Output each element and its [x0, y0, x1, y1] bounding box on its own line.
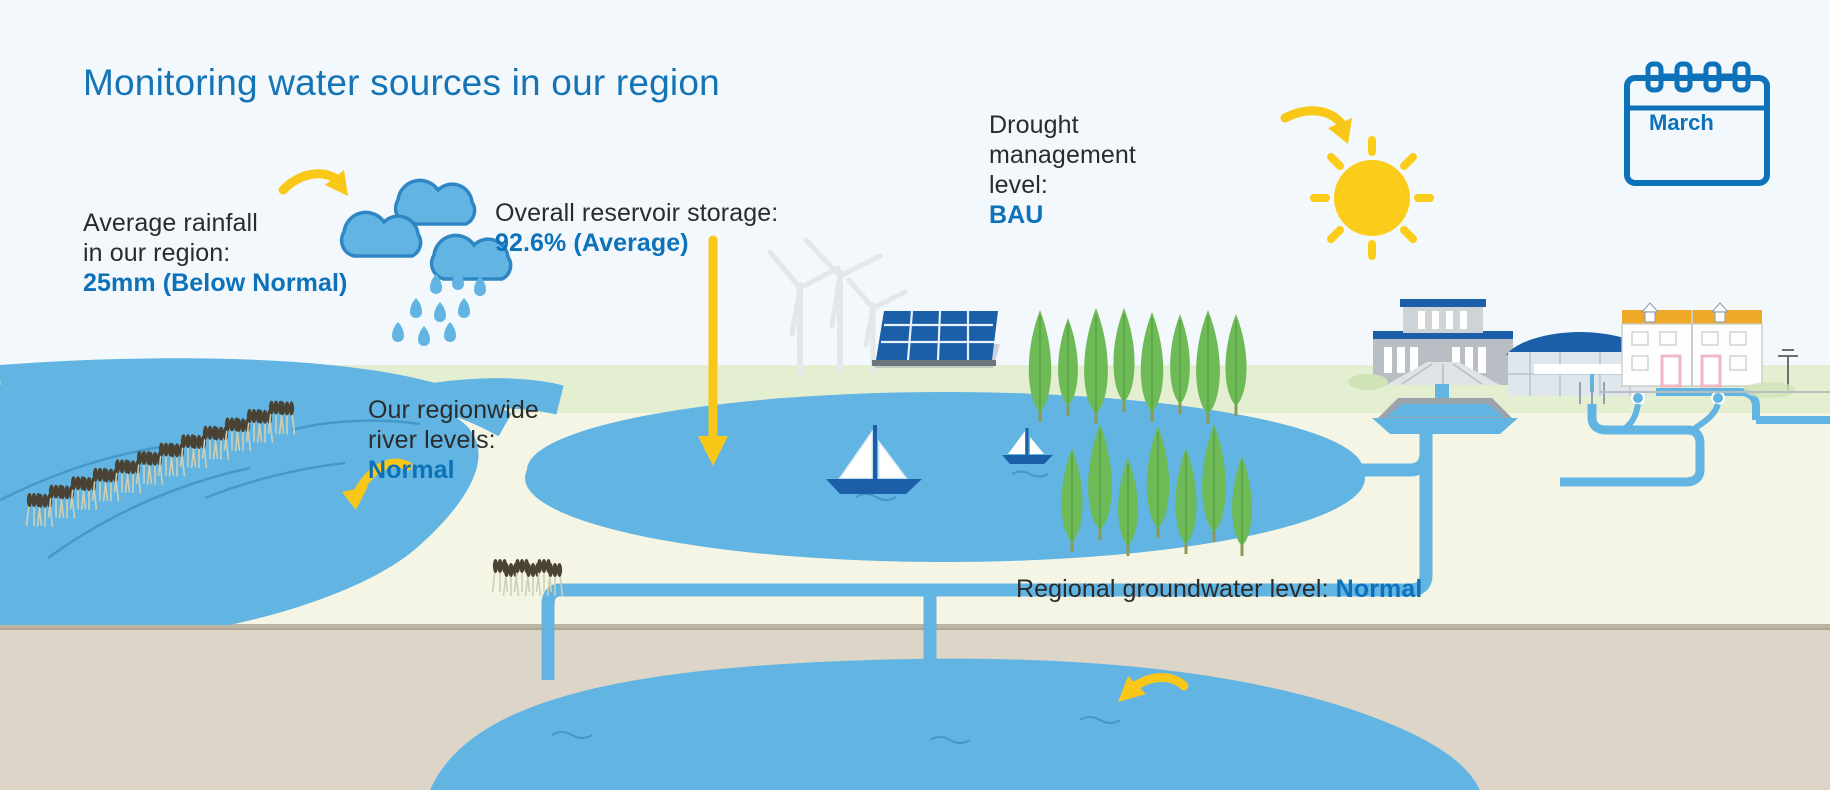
- rainfall-arrow-icon: [283, 170, 348, 196]
- metric-groundwater-label: Regional groundwater level:: [1016, 575, 1329, 603]
- drought-arrow-icon: [1285, 111, 1352, 144]
- annotation-layer: [0, 0, 1830, 790]
- sun-icon: [1314, 140, 1430, 256]
- metric-groundwater: Regional groundwater level: Normal: [1016, 574, 1422, 604]
- metric-rainfall: Average rainfall in our region: 25mm (Be…: [83, 208, 347, 298]
- metric-drought-label-line1: Drought: [989, 111, 1079, 139]
- metric-drought-label-line3: level:: [989, 171, 1048, 199]
- reservoir-arrow-icon: [698, 240, 728, 466]
- metric-drought-label-line2: management: [989, 141, 1136, 169]
- rain-cloud-icon: [342, 180, 511, 346]
- metric-rainfall-label-line2: in our region:: [83, 239, 230, 267]
- metric-river: Our regionwide river levels: Normal: [368, 395, 539, 485]
- metric-rainfall-value: 25mm (Below Normal): [83, 268, 347, 298]
- metric-groundwater-value: Normal: [1336, 575, 1423, 603]
- metric-rainfall-label-line1: Average rainfall: [83, 209, 258, 237]
- metric-reservoir: Overall reservoir storage: 92.6% (Averag…: [495, 198, 778, 258]
- metric-river-label-line2: river levels:: [368, 426, 496, 454]
- raindrop-group: [392, 270, 486, 346]
- metric-drought: Drought management level: BAU: [989, 110, 1136, 230]
- groundwater-arrow-icon: [1118, 676, 1184, 702]
- metric-reservoir-label: Overall reservoir storage:: [495, 199, 778, 227]
- infographic-canvas: Monitoring water sources in our region A…: [0, 0, 1830, 790]
- metric-drought-value: BAU: [989, 200, 1136, 230]
- calendar-month-label: March: [1649, 110, 1714, 136]
- metric-river-label-line1: Our regionwide: [368, 396, 539, 424]
- page-title: Monitoring water sources in our region: [83, 62, 720, 104]
- metric-river-value: Normal: [368, 455, 539, 485]
- metric-reservoir-value: 92.6% (Average): [495, 228, 778, 258]
